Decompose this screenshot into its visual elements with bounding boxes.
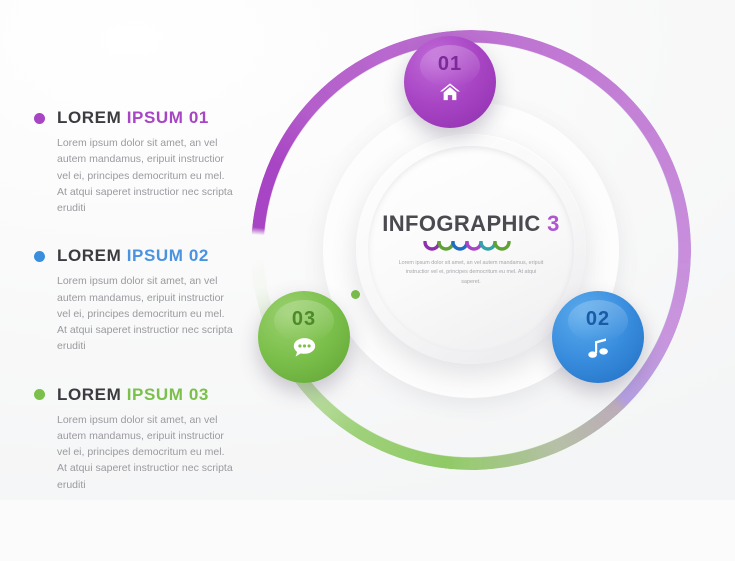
legend-item-02-header: LOREM IPSUM 02 <box>34 246 249 266</box>
badge-02-number: 02 <box>586 308 610 331</box>
circular-diagram: INFOGRAPHIC 3 Lorem ipsum dolor sit amet… <box>228 12 714 488</box>
legend-list: LOREM IPSUM 01 Lorem ipsum dolor sit ame… <box>34 108 249 523</box>
connector-dot-green <box>351 290 360 299</box>
legend-item-02-title: LOREM IPSUM 02 <box>57 246 209 266</box>
center-title-number: 3 <box>547 211 560 236</box>
wave-decoration-icon <box>423 241 519 253</box>
legend-item-01-title-accent: IPSUM 01 <box>127 108 209 127</box>
legend-item-01-title-dark: LOREM <box>57 108 121 127</box>
legend-item-03-title-dark: LOREM <box>57 385 121 404</box>
center-title-main: INFOGRAPHIC <box>382 211 540 236</box>
legend-item-03-title: LOREM IPSUM 03 <box>57 385 209 405</box>
legend-item-01-body: Lorem ipsum dolor sit amet, an vel autem… <box>57 135 235 216</box>
legend-item-03[interactable]: LOREM IPSUM 03 Lorem ipsum dolor sit ame… <box>34 385 249 493</box>
legend-item-03-header: LOREM IPSUM 03 <box>34 385 249 405</box>
legend-item-02[interactable]: LOREM IPSUM 02 Lorem ipsum dolor sit ame… <box>34 246 249 354</box>
legend-item-01[interactable]: LOREM IPSUM 01 Lorem ipsum dolor sit ame… <box>34 108 249 216</box>
center-body-text: Lorem ipsum dolor sit amet, an vel autem… <box>396 259 546 287</box>
legend-item-01-header: LOREM IPSUM 01 <box>34 108 249 128</box>
chat-bubble-icon <box>293 337 316 363</box>
badge-02[interactable]: 02 <box>552 291 644 383</box>
badge-03-number: 03 <box>292 308 316 331</box>
badge-01[interactable]: 01 <box>404 36 496 128</box>
legend-item-02-title-accent: IPSUM 02 <box>127 246 209 265</box>
bullet-icon <box>34 251 45 262</box>
home-icon <box>439 82 461 107</box>
infographic-canvas: LOREM IPSUM 01 Lorem ipsum dolor sit ame… <box>0 0 735 500</box>
legend-item-02-body: Lorem ipsum dolor sit amet, an vel autem… <box>57 273 235 354</box>
legend-item-03-body: Lorem ipsum dolor sit amet, an vel autem… <box>57 412 235 493</box>
center-title: INFOGRAPHIC 3 <box>382 211 560 237</box>
music-note-icon <box>588 337 608 363</box>
legend-item-01-title: LOREM IPSUM 01 <box>57 108 209 128</box>
bullet-icon <box>34 389 45 400</box>
bullet-icon <box>34 113 45 124</box>
legend-item-03-title-accent: IPSUM 03 <box>127 385 209 404</box>
badge-01-number: 01 <box>438 53 462 76</box>
legend-item-02-title-dark: LOREM <box>57 246 121 265</box>
badge-03[interactable]: 03 <box>258 291 350 383</box>
center-face: INFOGRAPHIC 3 Lorem ipsum dolor sit amet… <box>368 146 574 352</box>
